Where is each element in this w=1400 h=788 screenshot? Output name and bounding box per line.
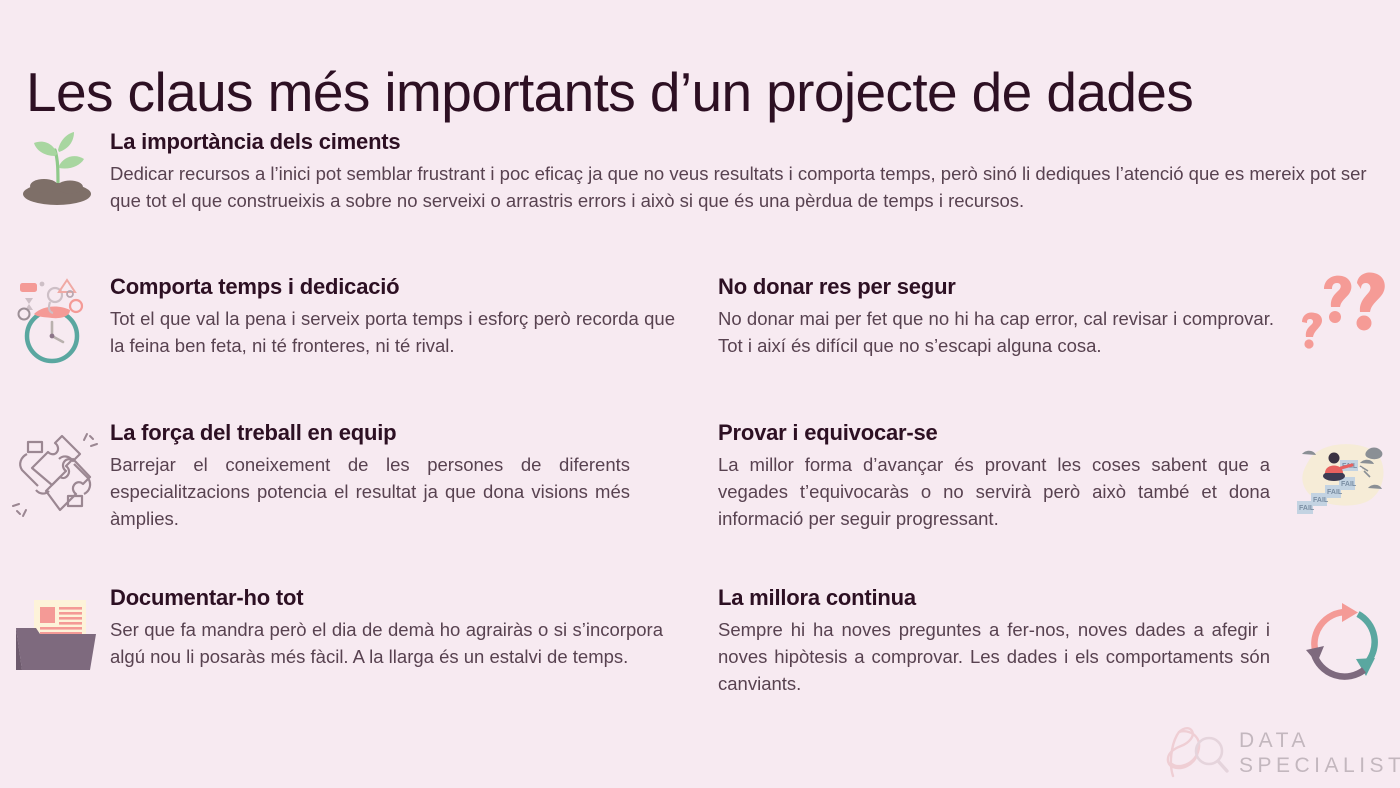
key-point-card: La força del treball en equip Barrejar e… <box>110 419 630 532</box>
seedling-icon <box>14 126 100 206</box>
page-title: Les claus més importants d’un projecte d… <box>26 59 1376 125</box>
logo-line-1: DATA <box>1239 729 1310 752</box>
cycle-arrows-icon <box>1300 600 1392 688</box>
card-heading: La força del treball en equip <box>110 419 630 446</box>
card-body: Dedicar recursos a l’inici pot semblar f… <box>110 160 1378 214</box>
puzzle-hands-icon <box>12 432 100 518</box>
card-body: Sempre hi ha noves preguntes a fer-nos, … <box>718 616 1270 697</box>
card-heading: Comporta temps i dedicació <box>110 273 675 300</box>
key-point-card: La millora continua Sempre hi ha noves p… <box>718 584 1270 697</box>
clock-person-icon <box>12 268 96 366</box>
question-marks-icon <box>1294 272 1394 360</box>
card-heading: Provar i equivocar-se <box>718 419 1270 446</box>
card-body: Tot el que val la pena i serveix porta t… <box>110 305 675 359</box>
key-point-card: No donar res per segur No donar mai per … <box>718 273 1274 359</box>
key-point-card: Provar i equivocar-se La millor forma d’… <box>718 419 1270 532</box>
card-body: La millor forma d’avançar és provant les… <box>718 451 1270 532</box>
card-body: Barrejar el coneixement de les persones … <box>110 451 630 532</box>
fail-stairs-icon: FAIL FAIL FAIL FAIL FAIL <box>1294 432 1396 520</box>
logo-line-2: SPECIALIST <box>1239 753 1400 778</box>
svg-text:FAIL: FAIL <box>1327 489 1343 496</box>
svg-text:FAIL: FAIL <box>1299 505 1315 512</box>
key-point-card: La importància dels ciments Dedicar recu… <box>110 128 1378 214</box>
slide-canvas: Les claus més importants d’un projecte d… <box>0 0 1400 788</box>
svg-text:FAIL: FAIL <box>1313 497 1329 504</box>
brand-logo: DATA SPECIALIST <box>1159 723 1391 783</box>
card-heading: No donar res per segur <box>718 273 1274 300</box>
card-body: Ser que fa mandra però el dia de demà ho… <box>110 616 663 670</box>
card-body: No donar mai per fet que no hi ha cap er… <box>718 305 1274 359</box>
folder-document-icon <box>12 582 102 674</box>
svg-text:FAIL: FAIL <box>1341 481 1357 488</box>
b-monogram-magnifier-icon <box>1159 724 1237 782</box>
card-heading: Documentar-ho tot <box>110 584 663 611</box>
key-point-card: Comporta temps i dedicació Tot el que va… <box>110 273 675 359</box>
logo-wordmark: DATA SPECIALIST <box>1239 728 1400 778</box>
card-heading: La importància dels ciments <box>110 128 1378 155</box>
key-point-card: Documentar-ho tot Ser que fa mandra però… <box>110 584 663 670</box>
card-heading: La millora continua <box>718 584 1270 611</box>
